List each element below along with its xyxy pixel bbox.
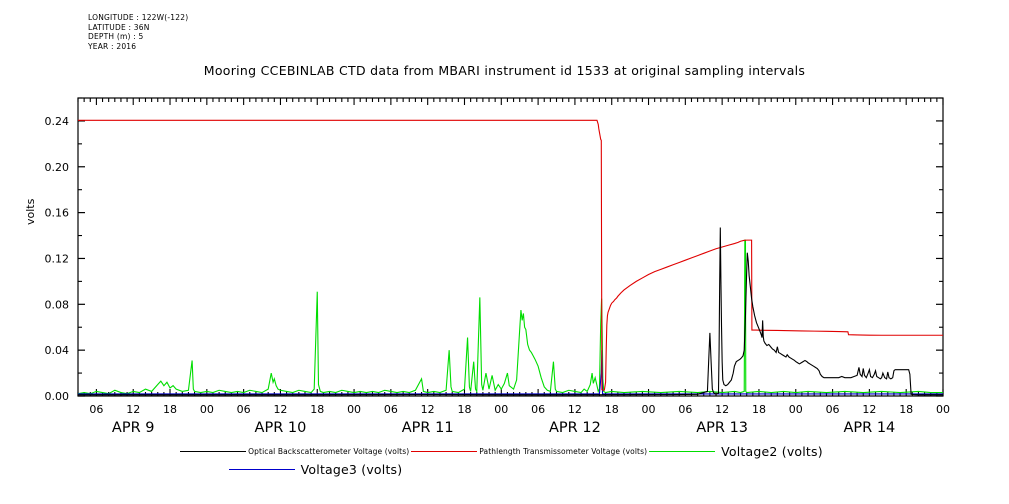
- x-day-label: APR 9: [112, 420, 155, 436]
- x-day-label: APR 10: [255, 420, 307, 436]
- x-tick-label: 18: [163, 403, 177, 416]
- x-tick-label: 12: [568, 403, 582, 416]
- x-day-label: APR 13: [696, 420, 748, 436]
- legend-row-1: Optical Backscatterometer Voltage (volts…: [0, 444, 1009, 459]
- y-tick-label: 0.00: [45, 390, 70, 403]
- y-tick-label: 0.20: [45, 161, 70, 174]
- x-tick-label: 12: [421, 403, 435, 416]
- series-trans: [78, 120, 943, 390]
- y-tick-label: 0.16: [45, 207, 70, 220]
- legend-label-trans: Pathlength Transmissometer Voltage (volt…: [477, 447, 649, 456]
- x-tick-label: 18: [457, 403, 471, 416]
- x-tick-label: 06: [89, 403, 103, 416]
- chart-plot-area: 0.000.040.080.120.160.200.24061218000612…: [0, 0, 1009, 504]
- series-v3: [78, 350, 943, 394]
- x-tick-label: 12: [715, 403, 729, 416]
- x-day-label: APR 11: [402, 420, 454, 436]
- x-tick-label: 00: [789, 403, 803, 416]
- x-tick-label: 18: [605, 403, 619, 416]
- legend-item-v2: Voltage2 (volts): [649, 444, 829, 459]
- x-day-label: APR 14: [843, 420, 895, 436]
- y-tick-label: 0.12: [45, 252, 70, 265]
- x-tick-label: 00: [936, 403, 950, 416]
- x-tick-label: 06: [237, 403, 251, 416]
- legend-item-obs: Optical Backscatterometer Voltage (volts…: [180, 447, 411, 456]
- y-tick-label: 0.08: [45, 298, 70, 311]
- legend-label-v3: Voltage3 (volts): [295, 462, 409, 477]
- y-tick-label: 0.04: [45, 344, 70, 357]
- x-tick-label: 06: [826, 403, 840, 416]
- x-tick-label: 00: [642, 403, 656, 416]
- x-tick-label: 06: [384, 403, 398, 416]
- legend-row-2: Voltage3 (volts): [0, 462, 1009, 477]
- chart-legend: Optical Backscatterometer Voltage (volts…: [0, 444, 1009, 477]
- x-tick-label: 18: [310, 403, 324, 416]
- x-tick-label: 00: [494, 403, 508, 416]
- x-tick-label: 12: [273, 403, 287, 416]
- legend-label-v2: Voltage2 (volts): [715, 444, 829, 459]
- x-tick-label: 00: [200, 403, 214, 416]
- x-tick-label: 18: [752, 403, 766, 416]
- plot-frame: [78, 98, 943, 396]
- x-tick-label: 18: [899, 403, 913, 416]
- legend-swatch-obs: [180, 451, 246, 453]
- x-tick-label: 12: [126, 403, 140, 416]
- x-tick-label: 00: [347, 403, 361, 416]
- series-obs: [78, 228, 943, 395]
- legend-label-obs: Optical Backscatterometer Voltage (volts…: [246, 447, 411, 456]
- legend-item-trans: Pathlength Transmissometer Voltage (volt…: [411, 447, 649, 456]
- x-day-label: APR 12: [549, 420, 601, 436]
- legend-item-v3: Voltage3 (volts): [229, 462, 409, 477]
- legend-swatch-v3: [229, 469, 295, 471]
- series-v2: [78, 240, 943, 394]
- y-tick-label: 0.24: [45, 115, 70, 128]
- legend-swatch-trans: [411, 451, 477, 453]
- legend-swatch-v2: [649, 451, 715, 453]
- x-tick-label: 06: [678, 403, 692, 416]
- x-tick-label: 06: [531, 403, 545, 416]
- x-tick-label: 12: [862, 403, 876, 416]
